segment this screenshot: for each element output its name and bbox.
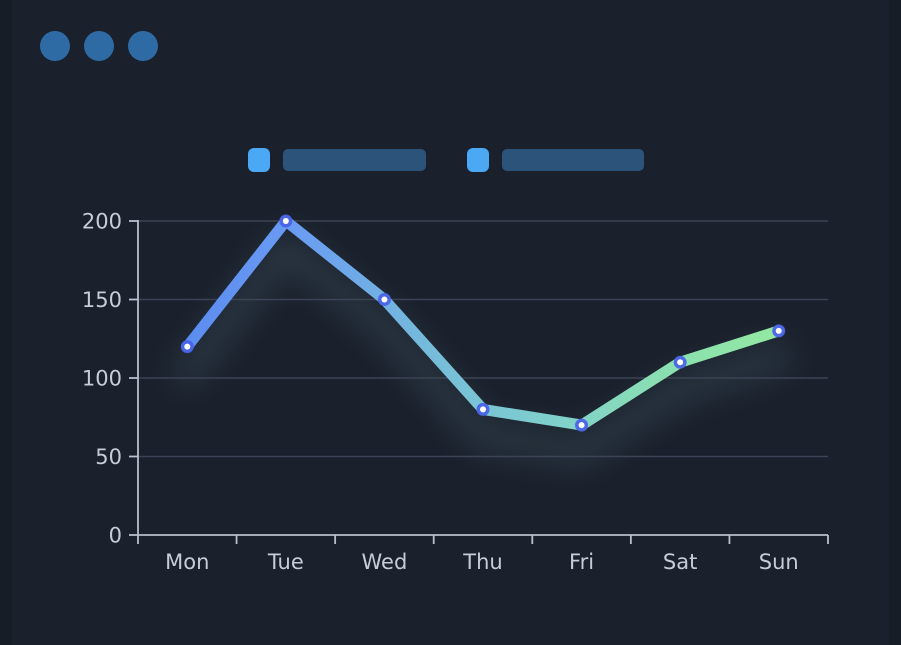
x-tick-label-4: Fri <box>569 550 594 574</box>
data-point-Fri[interactable] <box>579 422 585 428</box>
chart-window: 050100150200 MonTueWedThuFriSatSun <box>0 0 901 645</box>
chart-svg: 050100150200 MonTueWedThuFriSatSun <box>0 0 901 645</box>
x-tick-label-3: Thu <box>462 550 502 574</box>
x-tick-label-1: Tue <box>267 550 304 574</box>
x-tick-label-0: Mon <box>165 550 209 574</box>
y-axis-tick-labels: 050100150200 <box>82 210 122 548</box>
y-tick-label-4: 200 <box>82 210 122 234</box>
line-glow-path <box>187 247 778 451</box>
y-tick-label-2: 100 <box>82 367 122 391</box>
data-point-Mon[interactable] <box>184 344 190 350</box>
data-point-Wed[interactable] <box>381 297 387 303</box>
y-tick-label-1: 50 <box>95 445 122 469</box>
x-tick-label-2: Wed <box>362 550 408 574</box>
x-tick-label-5: Sat <box>663 550 697 574</box>
data-point-Sun[interactable] <box>776 328 782 334</box>
line-chart: 050100150200 MonTueWedThuFriSatSun <box>0 0 901 645</box>
y-tick-label-0: 0 <box>109 524 122 548</box>
y-tick-label-3: 150 <box>82 288 122 312</box>
line-glow <box>187 247 778 451</box>
data-point-Thu[interactable] <box>480 406 486 412</box>
data-point-Tue[interactable] <box>283 218 289 224</box>
x-tick-label-6: Sun <box>759 550 799 574</box>
x-axis-tick-labels: MonTueWedThuFriSatSun <box>165 550 799 574</box>
data-point-Sat[interactable] <box>677 359 683 365</box>
